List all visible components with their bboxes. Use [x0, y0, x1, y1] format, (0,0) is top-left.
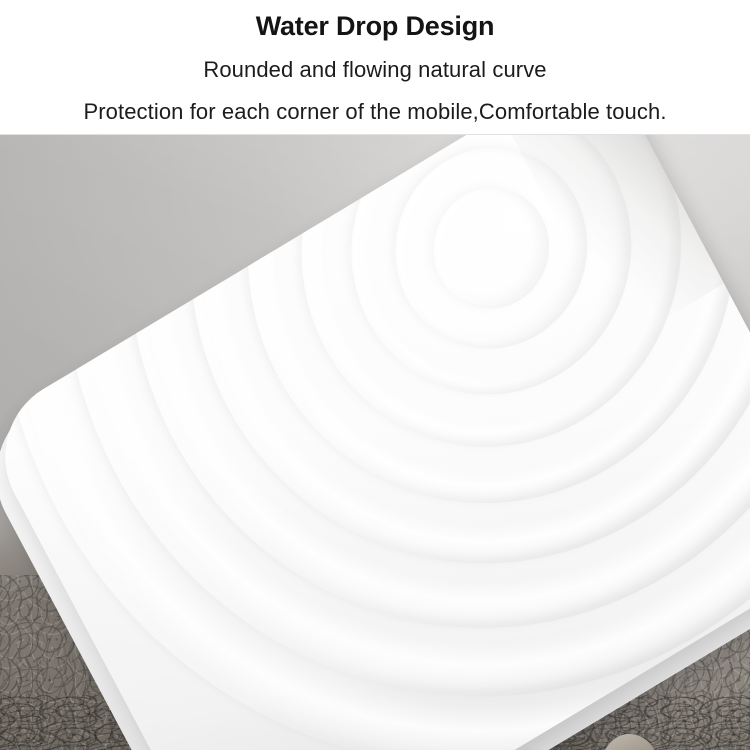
- subtitle-primary: Rounded and flowing natural curve: [0, 55, 750, 85]
- product-detail-image: Water Drop Design Rounded and flowing na…: [0, 0, 750, 750]
- product-photo: [0, 135, 750, 750]
- header-text-block: Water Drop Design Rounded and flowing na…: [0, 0, 750, 135]
- subtitle-secondary: Protection for each corner of the mobile…: [0, 97, 750, 127]
- page-title: Water Drop Design: [0, 9, 750, 43]
- header-divider: [0, 134, 750, 135]
